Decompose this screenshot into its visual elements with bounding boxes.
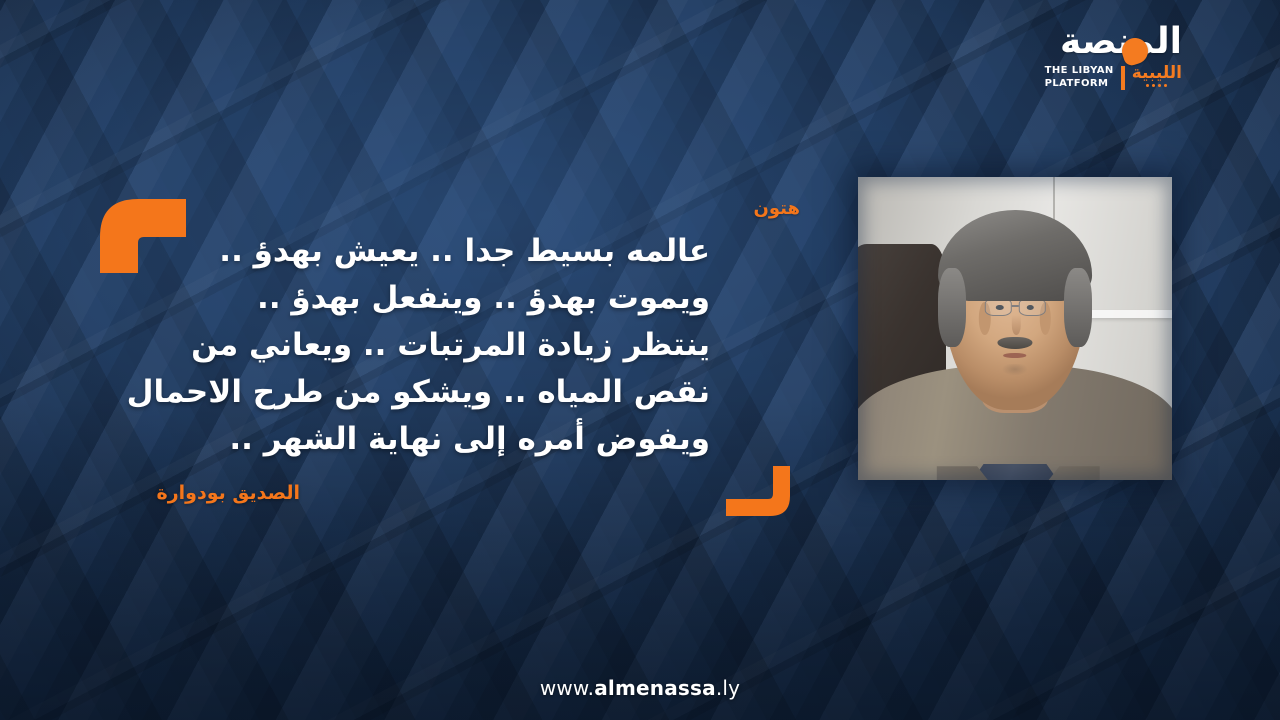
logo-english: THE LIBYAN PLATFORM — [1045, 65, 1114, 90]
quote-text-block: عالمه بسيط جدا .. يعيش بهدؤ .. ويموت بهد… — [120, 228, 710, 463]
logo-arabic-row: المنصة — [1060, 24, 1182, 60]
author-portrait — [858, 177, 1172, 480]
portrait-lens-right — [1019, 299, 1046, 316]
quote-line: ينتظر زيادة المرتبات .. ويعاني من — [120, 322, 710, 369]
logo-arabic-sub-wrap: الليبية — [1132, 65, 1182, 87]
portrait-chin — [1002, 364, 1028, 378]
portrait-glasses-bridge — [1011, 305, 1018, 307]
portrait-glasses — [985, 299, 1046, 316]
logo-arabic-sub: الليبية — [1132, 65, 1182, 82]
quote-line: ويفوض أمره إلى نهاية الشهر .. — [120, 416, 710, 463]
brand-logo[interactable]: المنصة THE LIBYAN PLATFORM الليبية — [1045, 24, 1182, 90]
website-url[interactable]: www.almenassa.ly — [0, 676, 1280, 700]
quote-close-icon — [726, 466, 790, 516]
kicker-label: هتون — [754, 198, 800, 219]
quote-line: ويموت بهدؤ .. وينفعل بهدؤ .. — [120, 275, 710, 322]
quote-line: نقص المياه .. ويشكو من طرح الاحمال — [120, 369, 710, 416]
url-prefix: www. — [540, 676, 594, 700]
logo-sub-row: THE LIBYAN PLATFORM الليبية — [1045, 65, 1182, 90]
portrait-nose — [1012, 315, 1021, 334]
url-suffix: .ly — [716, 676, 740, 700]
logo-arabic-main: المنصة — [1060, 24, 1182, 60]
quote-line: عالمه بسيط جدا .. يعيش بهدؤ .. — [120, 228, 710, 275]
portrait-lens-left — [985, 299, 1012, 316]
logo-divider-bar — [1121, 66, 1125, 90]
url-name: almenassa — [594, 676, 716, 700]
portrait-mouth — [1003, 353, 1026, 358]
quote-card: المنصة THE LIBYAN PLATFORM الليبية هتون … — [0, 0, 1280, 720]
portrait-hair-right — [1064, 268, 1092, 347]
logo-english-line1: THE LIBYAN — [1045, 65, 1114, 78]
author-attribution: الصديق بودوارة — [157, 482, 301, 504]
portrait-moustache — [998, 337, 1033, 350]
logo-english-line2: PLATFORM — [1045, 78, 1114, 91]
portrait-hair-left — [938, 268, 966, 347]
logo-dots-icon — [1146, 84, 1167, 87]
